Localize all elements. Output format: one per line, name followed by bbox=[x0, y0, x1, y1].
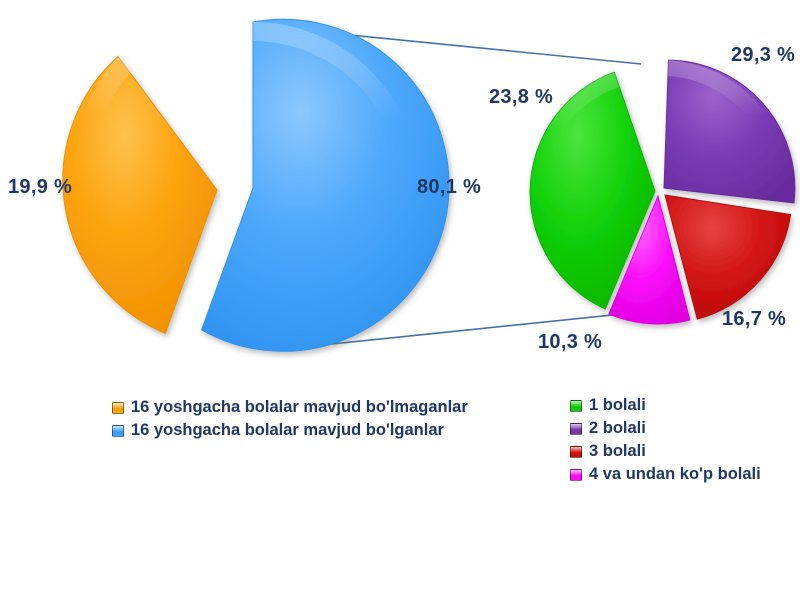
pie-of-pie-chart: 19,9 % 80,1 % 29,3 % 23,8 % 16,7 % 10,3 … bbox=[0, 0, 800, 600]
legend-main-pie: 16 yoshgacha bolalar mavjud bo'lmaganlar… bbox=[112, 396, 468, 442]
data-label-blue: 80,1 % bbox=[417, 176, 481, 199]
legend-swatch-green-icon bbox=[570, 400, 582, 412]
legend-label: 16 yoshgacha bolalar mavjud bo'lganlar bbox=[131, 421, 444, 440]
legend-item-no-children[interactable]: 16 yoshgacha bolalar mavjud bo'lmaganlar bbox=[112, 396, 468, 419]
legend-breakdown-pie: 1 bolali 2 bolali 3 bolali 4 va undan ko… bbox=[570, 394, 761, 486]
legend-label: 16 yoshgacha bolalar mavjud bo'lmaganlar bbox=[131, 398, 468, 417]
legend-label: 2 bolali bbox=[589, 419, 646, 438]
data-label-red: 16,7 % bbox=[722, 308, 786, 331]
legend-swatch-magenta-icon bbox=[570, 469, 582, 481]
legend-item-3-children[interactable]: 3 bolali bbox=[570, 440, 761, 463]
breakdown-pie-group bbox=[530, 60, 795, 324]
legend-item-1-child[interactable]: 1 bolali bbox=[570, 394, 761, 417]
legend-item-with-children[interactable]: 16 yoshgacha bolalar mavjud bo'lganlar bbox=[112, 419, 468, 442]
data-label-magenta: 10,3 % bbox=[538, 331, 602, 354]
legend-item-2-children[interactable]: 2 bolali bbox=[570, 417, 761, 440]
data-label-green: 23,8 % bbox=[489, 86, 553, 109]
legend-label: 3 bolali bbox=[589, 442, 646, 461]
legend-item-4-or-more-children[interactable]: 4 va undan ko'p bolali bbox=[570, 463, 761, 486]
legend-swatch-red-icon bbox=[570, 446, 582, 458]
legend-swatch-purple-icon bbox=[570, 423, 582, 435]
pie-slice-orange[interactable] bbox=[63, 57, 217, 334]
legend-swatch-blue-icon bbox=[112, 425, 124, 437]
chart-canvas bbox=[0, 0, 800, 600]
main-pie-group bbox=[63, 19, 449, 351]
data-label-orange: 19,9 % bbox=[8, 176, 72, 199]
legend-label: 4 va undan ko'p bolali bbox=[589, 465, 761, 484]
legend-swatch-orange-icon bbox=[112, 402, 124, 414]
legend-label: 1 bolali bbox=[589, 396, 646, 415]
data-label-purple: 29,3 % bbox=[731, 44, 795, 67]
